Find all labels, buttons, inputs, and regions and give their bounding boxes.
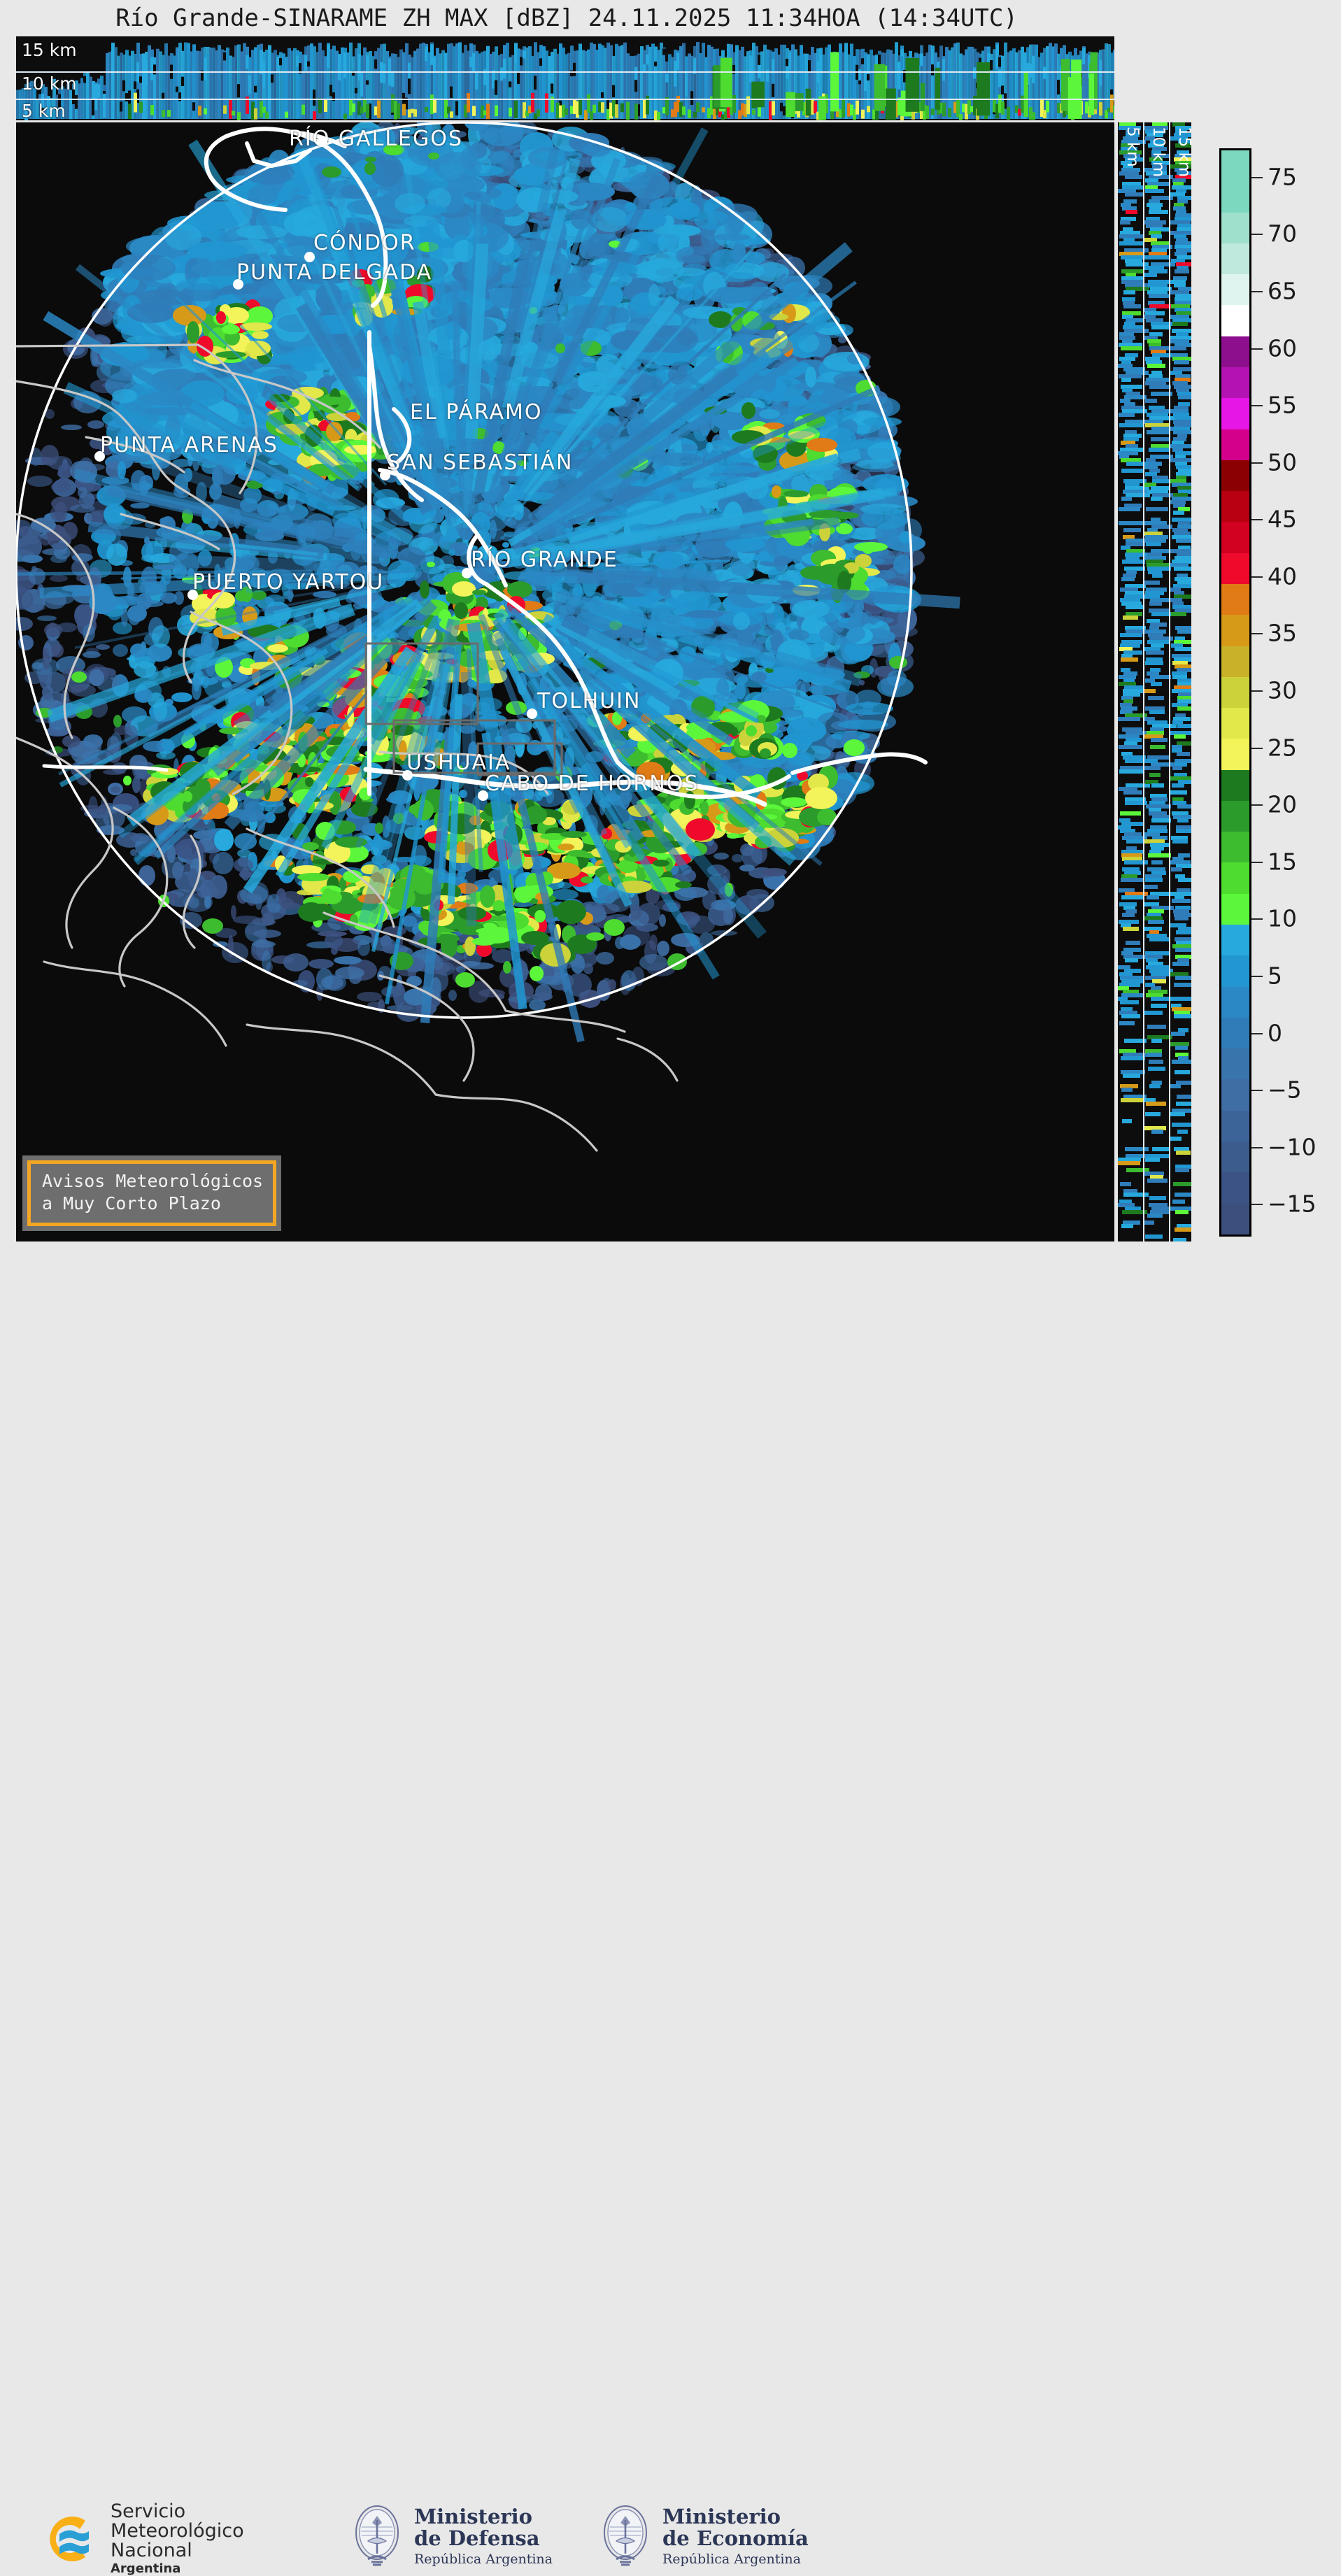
colorbar-segment [1221,522,1249,553]
colorbar-label: 10 [1268,905,1297,932]
colorbar-label: 5 [1268,962,1282,989]
city-dot-san-sebastián [380,470,390,481]
colorbar-tick [1251,1090,1263,1091]
colorbar-tick [1251,462,1263,464]
colorbar-segment [1221,615,1249,646]
colorbar-label: −5 [1268,1076,1302,1104]
colorbar-tick [1251,918,1263,920]
ministerio-defensa-text: Ministerio de Defensa República Argentin… [414,2506,553,2566]
colorbar-segment [1221,987,1249,1018]
colorbar-segment [1221,1141,1249,1172]
smn-line-3: Nacional [111,2541,244,2561]
colorbar-segment [1221,213,1249,243]
colorbar-segment [1221,1018,1249,1048]
colorbar-segment [1221,801,1249,832]
footer: Servicio Meteorológico Nacional Argentin… [0,1246,1341,1335]
colorbar-segment [1221,460,1249,491]
colorbar-tick [1251,690,1263,692]
city-dot-cabo-de-hornos [478,790,488,801]
smn-line-4: Argentina [111,2563,244,2576]
colorbar-tick [1251,234,1263,235]
smn-line-1: Servicio [111,2502,244,2521]
colorbar-label: 50 [1268,448,1297,476]
dbz-colorbar [1219,148,1251,1237]
ministerio-economia-line-1: Ministerio [662,2506,809,2528]
colorbar-label: 15 [1268,848,1297,875]
colorbar-segment [1221,739,1249,769]
colorbar-label: 40 [1268,562,1297,590]
altitude-label-15km: 15 km [22,40,77,60]
logo-ministerio-economia[interactable]: Ministerio de Economía República Argenti… [598,2503,809,2570]
colorbar-tick [1251,862,1263,863]
ministerio-economia-line-2: de Economía [662,2528,809,2549]
logo-smn[interactable]: Servicio Meteorológico Nacional Argentin… [36,2502,244,2576]
colorbar-segment [1221,646,1249,677]
colorbar-label: 0 [1268,1019,1282,1046]
colorbar-segment [1221,1048,1249,1079]
side-altitude-label-15km: 15 km [1175,127,1191,177]
colorbar-tick [1251,177,1263,178]
logo-ministerio-defensa[interactable]: Ministerio de Defensa República Argentin… [350,2503,553,2570]
colorbar-tick [1251,1204,1263,1205]
colorbar-label: 75 [1268,163,1297,190]
city-dot-punta-arenas [94,451,105,462]
colorbar-tick [1251,405,1263,406]
colorbar-tick [1251,576,1263,578]
colorbar-label: 55 [1268,392,1297,419]
page-title: Río Grande-SINARAME ZH MAX [dBZ] 24.11.2… [0,4,1133,32]
colorbar-segment [1221,708,1249,739]
top-cross-section-panel: 15 km 10 km 5 km [16,36,1114,120]
colorbar-label: 65 [1268,277,1297,304]
colorbar-segment [1221,955,1249,986]
colorbar-segment [1221,181,1249,212]
avisos-line-1: Avisos Meteorológicos [42,1170,263,1193]
avisos-box-inner: Avisos Meteorológicos a Muy Corto Plazo [27,1160,276,1226]
colorbar-segment [1221,429,1249,460]
colorbar-segment [1221,1204,1249,1234]
avisos-box[interactable]: Avisos Meteorológicos a Muy Corto Plazo [22,1155,281,1231]
argentina-coat-of-arms-icon [350,2503,404,2570]
colorbar-tick [1251,519,1263,520]
colorbar-tick [1251,1147,1263,1148]
colorbar-segment [1221,832,1249,862]
ministerio-defensa-line-1: Ministerio [414,2506,553,2528]
smn-line-2: Meteorológico [111,2521,244,2541]
colorbar-label: −15 [1268,1190,1317,1218]
side-cross-section-canvas [1118,122,1191,1241]
city-dot-punta-delgada [233,279,243,290]
altitude-label-10km: 10 km [22,73,77,94]
colorbar-label: −10 [1268,1133,1317,1160]
colorbar-segment [1221,770,1249,801]
ministerio-economia-text: Ministerio de Economía República Argenti… [662,2506,809,2566]
colorbar-tick [1251,348,1263,350]
colorbar-segment [1221,862,1249,893]
city-dot-río-gallegos [317,136,327,147]
side-altitude-label-10km: 10 km [1149,127,1168,177]
colorbar-tick [1251,804,1263,806]
colorbar-label: 60 [1268,334,1297,362]
smn-logo-icon [36,2507,101,2571]
side-gridline-a [1143,122,1144,1241]
colorbar-label: 30 [1268,677,1297,704]
altitude-gridline-5km [16,99,1114,100]
city-dot-cóndor [304,252,315,262]
top-cross-section-canvas [16,36,1114,120]
ministerio-defensa-line-3: República Argentina [414,2552,553,2566]
radar-map-panel[interactable]: RÍO GALLEGOSCÓNDORPUNTA DELGADAEL PÁRAMO… [16,122,1114,1241]
side-cross-section-panel: 5 km 10 km 15 km [1118,122,1191,1241]
colorbar-tick [1251,976,1263,977]
city-dot-río-grande [462,568,472,578]
colorbar-segment [1221,274,1249,305]
ministerio-economia-line-3: República Argentina [662,2552,809,2566]
argentina-coat-of-arms-icon-2 [598,2503,653,2570]
colorbar-segment [1221,305,1249,336]
colorbar-segment [1221,491,1249,522]
colorbar-segment [1221,1079,1249,1110]
smn-logo-text: Servicio Meteorológico Nacional Argentin… [111,2502,244,2576]
colorbar-segment [1221,398,1249,429]
radar-map-canvas [16,122,1114,1241]
side-altitude-label-5km: 5 km [1123,127,1142,167]
ministerio-defensa-line-2: de Defensa [414,2528,553,2549]
altitude-label-5km: 5 km [22,101,66,120]
colorbar-segment [1221,584,1249,615]
colorbar-segment [1221,367,1249,398]
colorbar-segment [1221,925,1249,955]
avisos-line-2: a Muy Corto Plazo [42,1193,263,1215]
colorbar-segment [1221,336,1249,367]
colorbar-label: 45 [1268,506,1297,533]
colorbar-segment [1221,677,1249,708]
colorbar-tick [1251,633,1263,634]
colorbar-segment [1221,150,1249,181]
colorbar-label: 70 [1268,220,1297,248]
colorbar-segment [1221,553,1249,584]
colorbar-tick [1251,1033,1263,1034]
colorbar-segment [1221,1111,1249,1141]
colorbar-label: 35 [1268,620,1297,647]
city-dot-puerto-yartou [187,590,198,600]
altitude-gridline-10km [16,71,1114,73]
colorbar-segment [1221,243,1249,274]
colorbar-label: 20 [1268,791,1297,818]
colorbar-tick [1251,291,1263,292]
city-dot-tolhuin [527,709,537,719]
colorbar-label: 25 [1268,734,1297,761]
side-gridline-b [1169,122,1170,1241]
colorbar-segment [1221,894,1249,925]
colorbar-tick [1251,748,1263,749]
city-dot-ushuaia [402,770,413,781]
colorbar-segment [1221,1172,1249,1203]
